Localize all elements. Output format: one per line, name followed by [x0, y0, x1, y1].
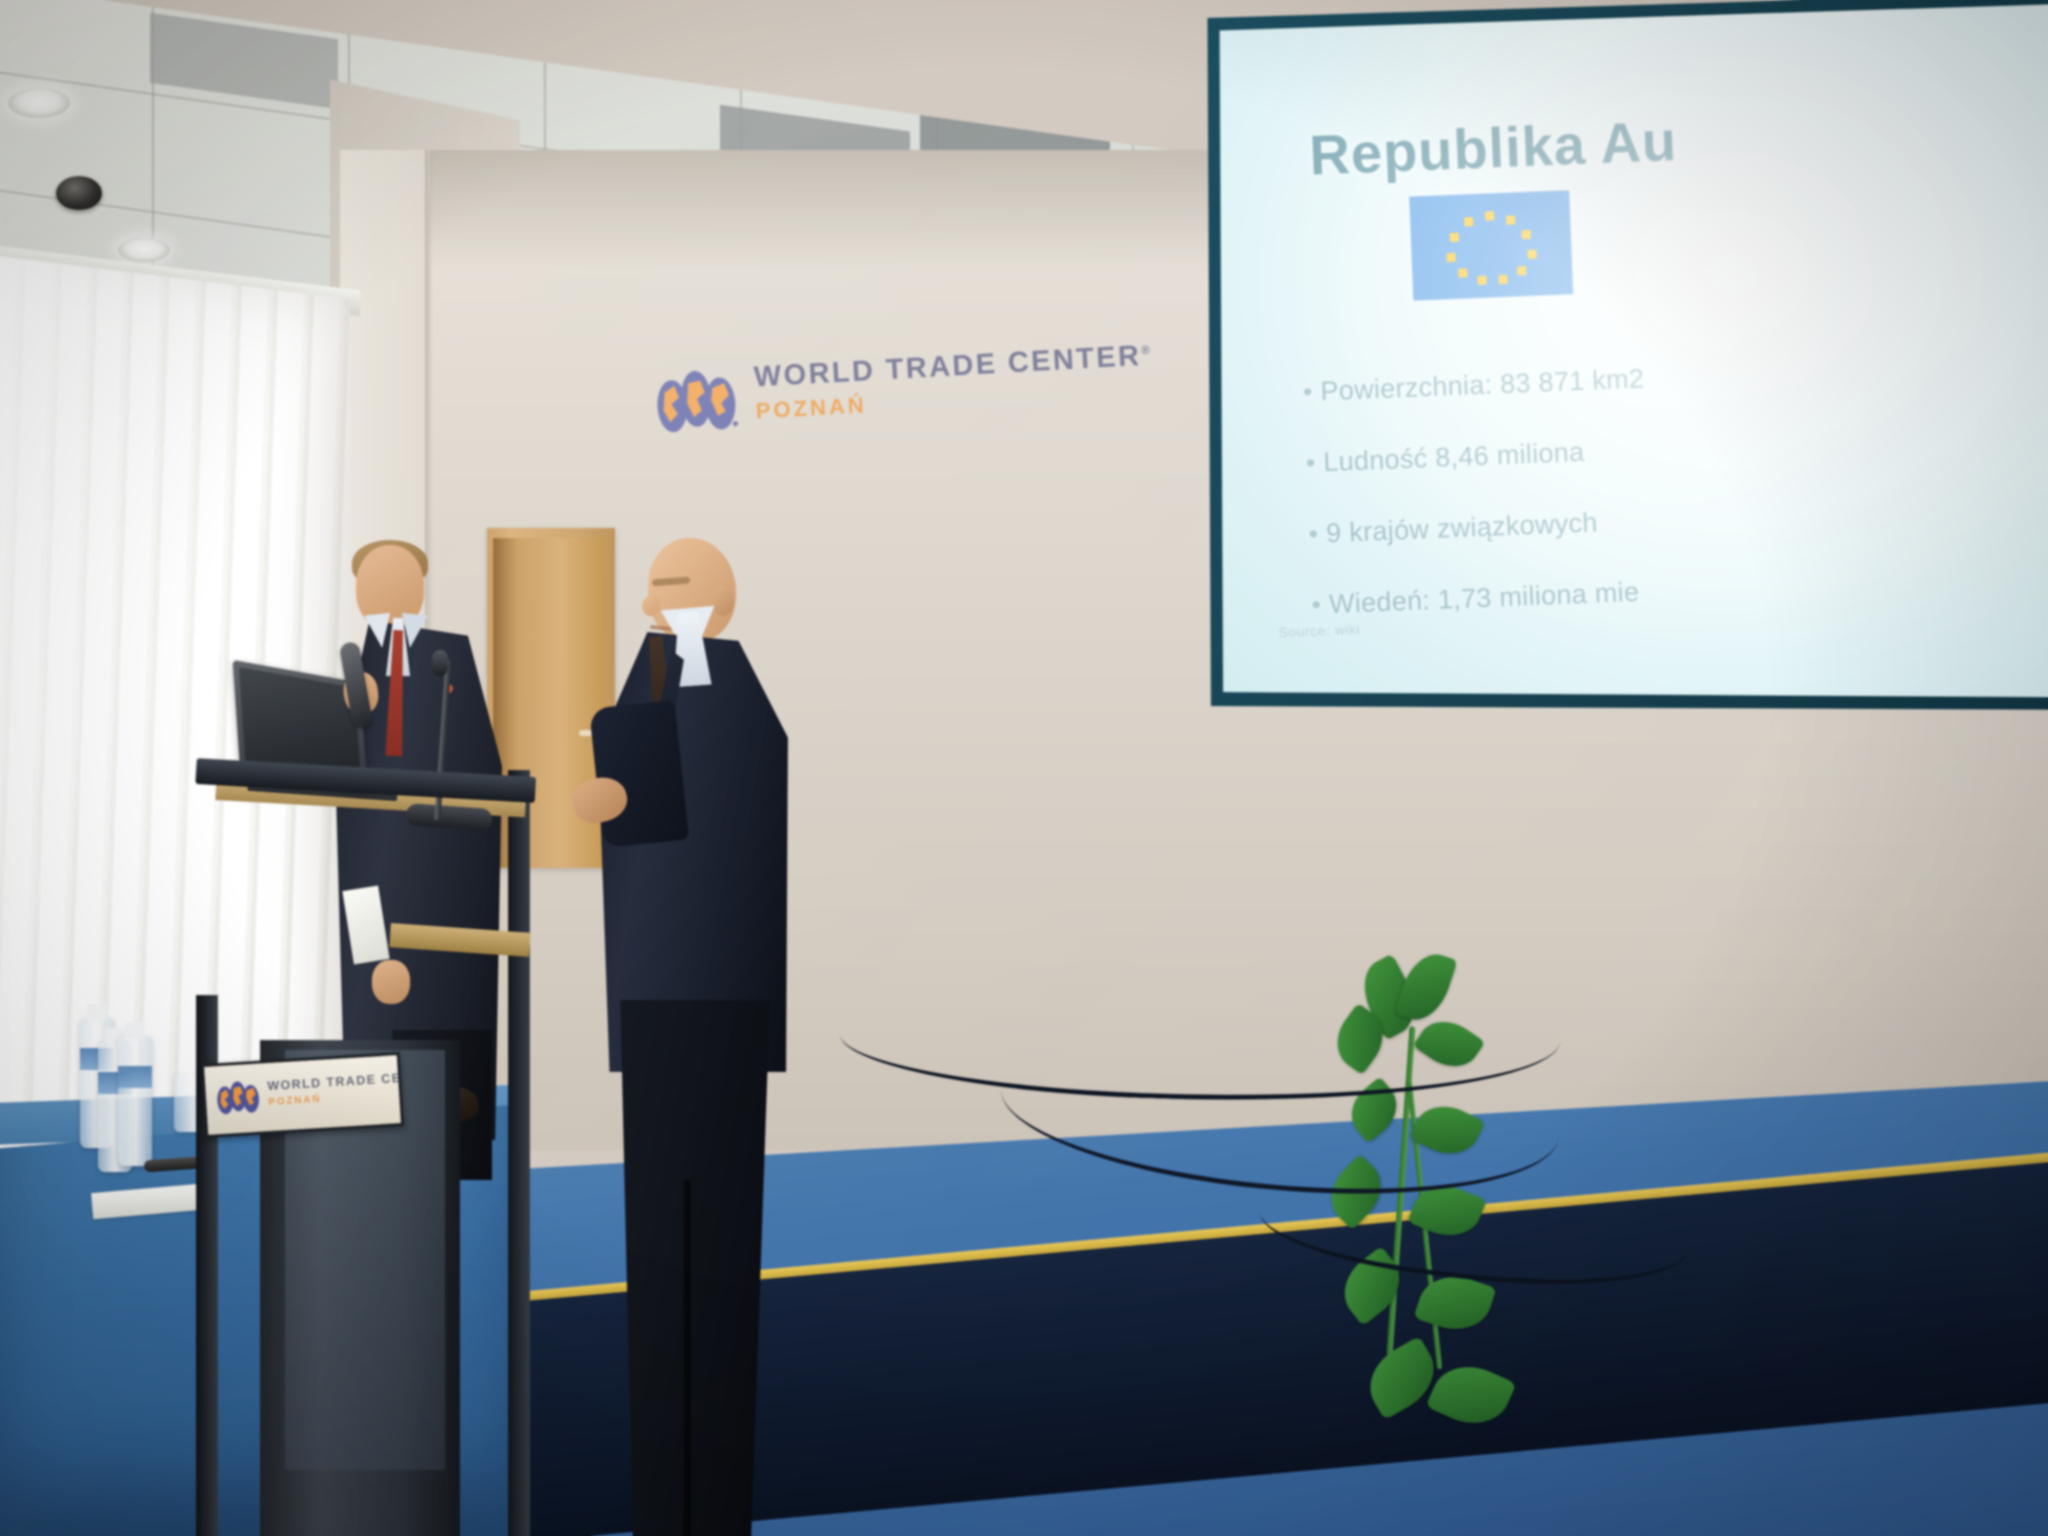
lectern-sign-line2: POZNAŃ: [268, 1094, 322, 1108]
presenter-ear: [712, 586, 734, 616]
conference-room-photo: WORLD TRADE CENTER® POZNAŃ Republika Au: [0, 0, 2048, 1536]
slide-bullet-list: Powierzchnia: 83 871 km2 Ludność 8,46 mi…: [1262, 345, 2048, 665]
wtc-wall-logo-text: WORLD TRADE CENTER® POZNAŃ: [753, 339, 1155, 424]
presenter-nose: [642, 596, 660, 616]
slide-bullet: Powierzchnia: 83 871 km2: [1302, 345, 2048, 406]
slide-title: Republika Au: [1308, 108, 1678, 188]
presenter-trousers: [614, 1000, 770, 1536]
slide-bullet: Wiedeń: 1,73 miliona mie: [1311, 557, 2048, 618]
slide-bullet: 9 krajów związkowych: [1308, 486, 2048, 547]
downlight-icon: [118, 238, 170, 262]
water-bottle[interactable]: [118, 1036, 152, 1166]
downlight-icon: [8, 88, 70, 118]
presentation-slide: Republika Au Powierzchnia: 83 8: [1174, 0, 2048, 749]
presenter-trouser-seam: [684, 1180, 691, 1536]
wtc-globe-logo-icon: [215, 1077, 261, 1120]
dome-security-camera-icon: [56, 176, 102, 210]
lectern-frame-right: [508, 770, 530, 1536]
presenter-arm: [589, 700, 689, 848]
slide-bullet: Ludność 8,46 miliona: [1305, 416, 2048, 477]
wtc-globe-logo-icon: [653, 367, 739, 437]
slide-source-note: Source: wiki: [1278, 621, 1360, 640]
lectern-sign-line1: WORLD TRADE CENTER: [267, 1069, 404, 1094]
projection-screen: Republika Au Powierzchnia: 83 8: [1188, 0, 2048, 732]
lectern-wtc-sign: WORLD TRADE CENTER POZNAŃ: [201, 1052, 404, 1138]
microphone-stand-head: [432, 650, 448, 676]
speaker-hand: [372, 960, 410, 1004]
screen-surface: Republika Au Powierzchnia: 83 8: [1188, 0, 2048, 732]
trademark-icon: ®: [1141, 343, 1153, 358]
eu-flag-icon: [1409, 190, 1573, 300]
